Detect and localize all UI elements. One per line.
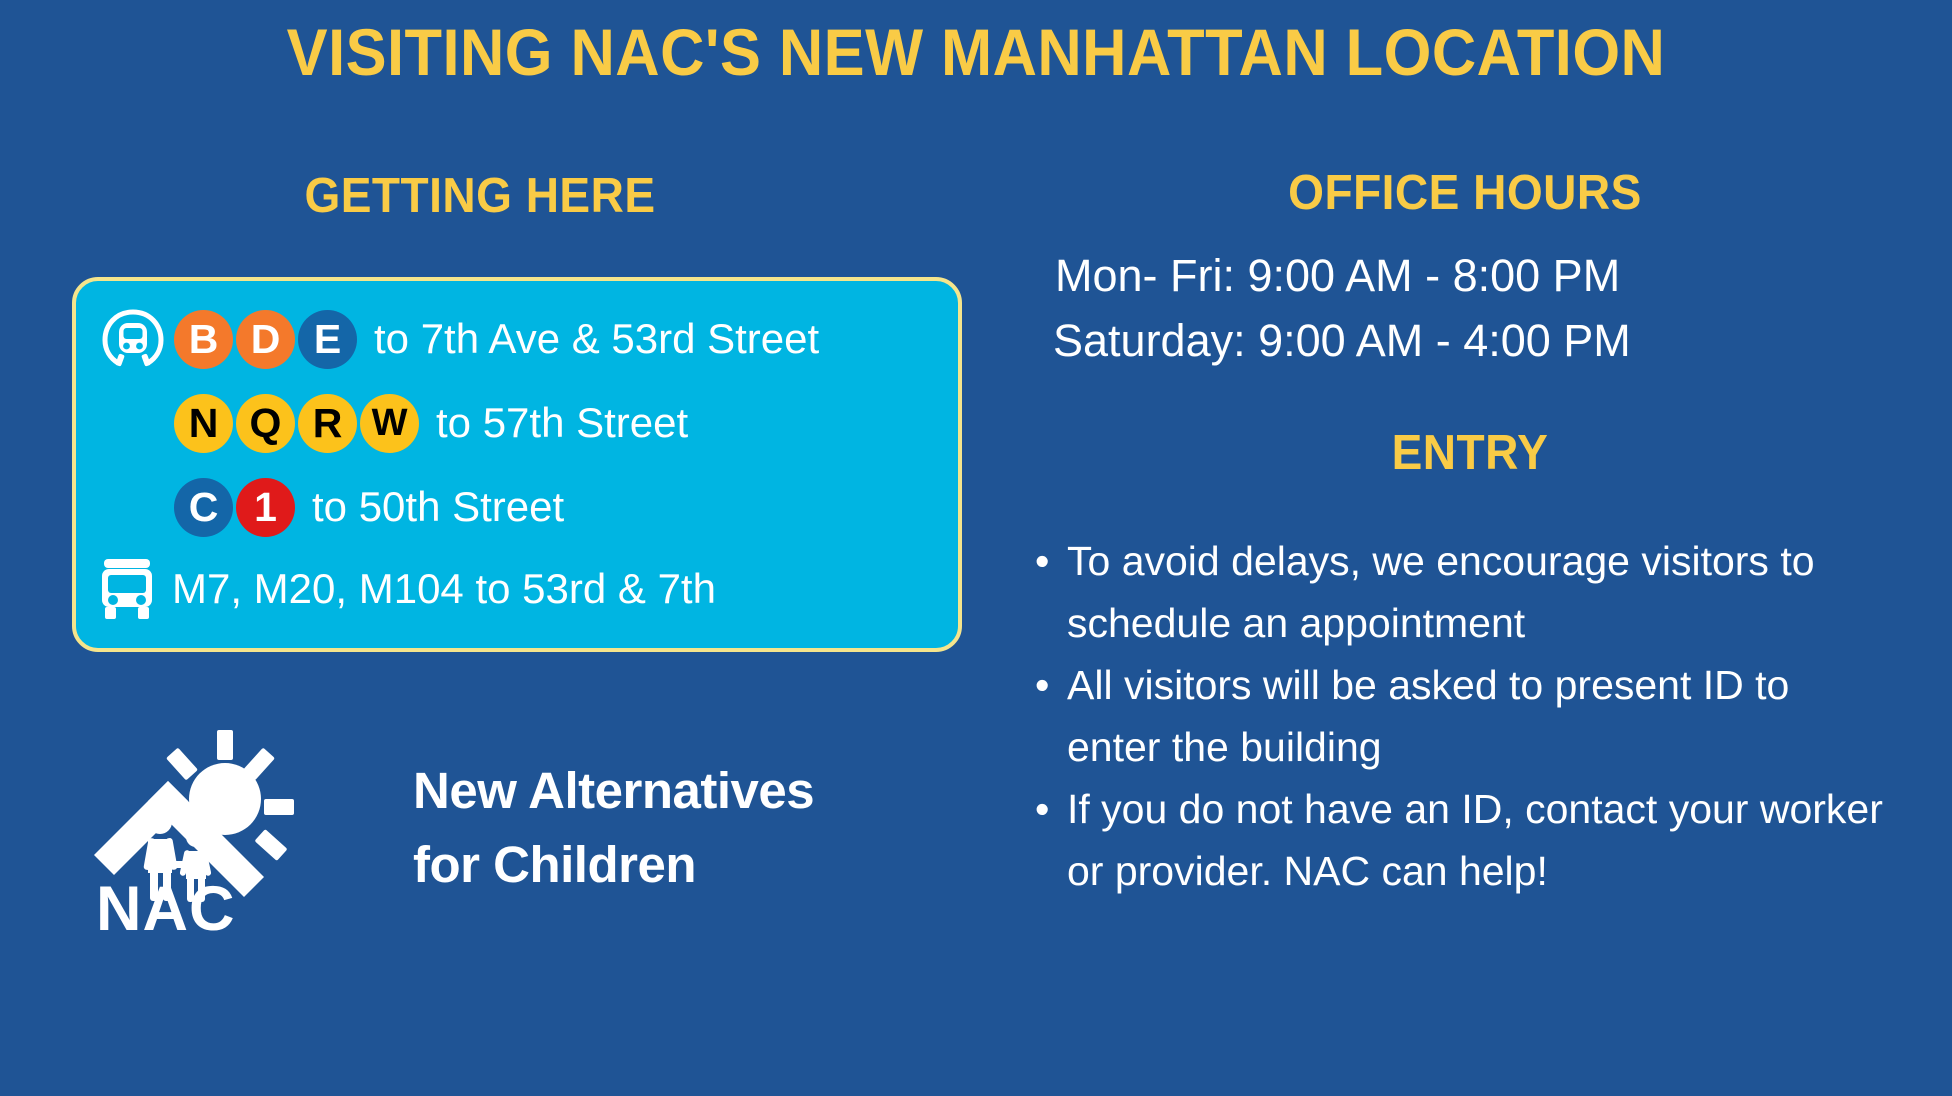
- list-item: • To avoid delays, we encourage visitors…: [1025, 530, 1885, 654]
- transit-row: C 1 to 50th Street: [96, 471, 564, 543]
- held-hands: [172, 861, 190, 868]
- bullet-glyph: •: [1035, 654, 1049, 716]
- subway-bullet-b: B: [174, 310, 233, 369]
- list-item: • If you do not have an ID, contact your…: [1025, 778, 1885, 902]
- route-destination: to 57th Street: [436, 399, 688, 447]
- entry-bullet-list: • To avoid delays, we encourage visitors…: [1025, 530, 1885, 902]
- nac-logo: NAC New Alternatives for Children: [88, 727, 888, 947]
- subway-bullet-e: E: [298, 310, 357, 369]
- transit-row: B D E to 7th Ave & 53rd Street: [96, 303, 819, 375]
- subway-bullet-r: R: [298, 394, 357, 453]
- subway-bullet-w: W: [360, 394, 419, 453]
- nac-house-sun-family-logo: NAC: [88, 727, 303, 932]
- subway-bullet-c: C: [174, 478, 233, 537]
- bus-icon: [90, 558, 164, 620]
- list-item-text: If you do not have an ID, contact your w…: [1067, 786, 1883, 894]
- subway-bullet-n: N: [174, 394, 233, 453]
- subway-bullet-d: D: [236, 310, 295, 369]
- list-item-text: All visitors will be asked to present ID…: [1067, 662, 1789, 770]
- route-destination: to 50th Street: [312, 483, 564, 531]
- subway-bullet-1: 1: [236, 478, 295, 537]
- bullet-glyph: •: [1035, 530, 1049, 592]
- logo-wordmark: New Alternatives for Children: [413, 754, 814, 902]
- subway-icon: [96, 308, 170, 370]
- office-hours-weekday: Mon- Fri: 9:00 AM - 8:00 PM: [1055, 250, 1620, 302]
- bullet-glyph: •: [1035, 778, 1049, 840]
- poster-canvas: VISITING NAC'S NEW MANHATTAN LOCATION GE…: [0, 0, 1952, 1096]
- logo-line-2: for Children: [413, 828, 814, 902]
- office-hours-saturday: Saturday: 9:00 AM - 4:00 PM: [1053, 315, 1631, 367]
- transit-card: B D E to 7th Ave & 53rd Street N Q R W t…: [72, 277, 962, 652]
- list-item-text: To avoid delays, we encourage visitors t…: [1067, 538, 1815, 646]
- logo-line-1: New Alternatives: [413, 754, 814, 828]
- page-title: VISITING NAC'S NEW MANHATTAN LOCATION: [68, 14, 1883, 90]
- transit-row: N Q R W to 57th Street: [96, 387, 688, 459]
- entry-heading: ENTRY: [1301, 425, 1639, 481]
- nac-acronym: NAC: [96, 874, 236, 932]
- bus-routes: M7, M20, M104 to 53rd & 7th: [172, 565, 716, 613]
- subway-bullet-q: Q: [236, 394, 295, 453]
- transit-row: M7, M20, M104 to 53rd & 7th: [90, 553, 716, 625]
- route-destination: to 7th Ave & 53rd Street: [374, 315, 819, 363]
- list-item: • All visitors will be asked to present …: [1025, 654, 1885, 778]
- getting-here-heading: GETTING HERE: [254, 168, 705, 224]
- office-hours-heading: OFFICE HOURS: [1230, 165, 1700, 221]
